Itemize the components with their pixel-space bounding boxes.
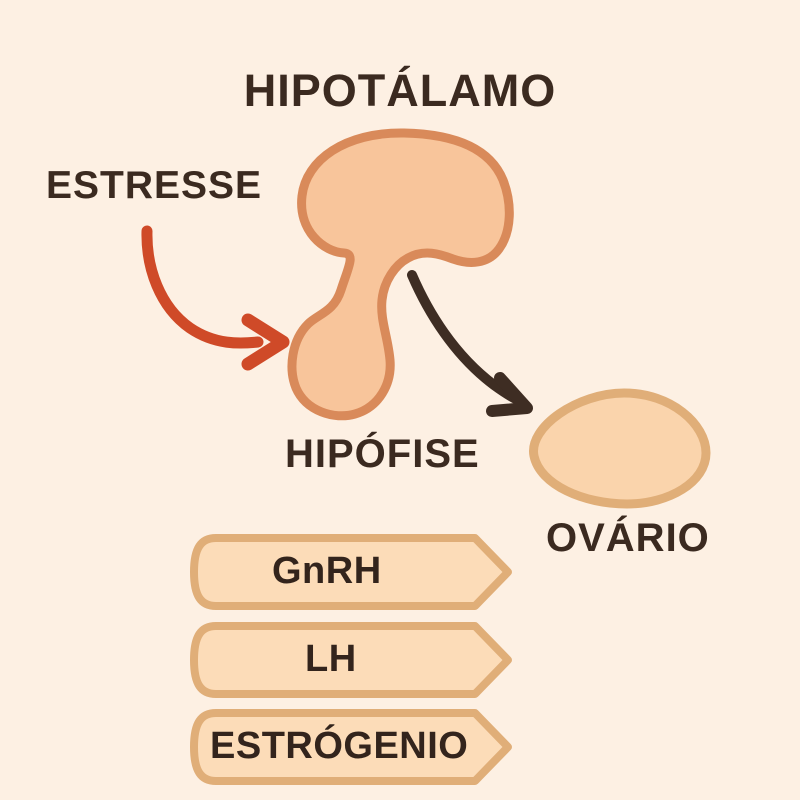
hormone-tag-label-estrogenio: ESTRÓGENIO xyxy=(210,727,468,765)
diagram-canvas: HIPOTÁLAMO ESTRESSE HIPÓFISE OVÁRIO GnRH… xyxy=(0,0,800,800)
hipofise-ovario-arrow xyxy=(412,275,527,411)
hormone-tag-label-gnrh: GnRH xyxy=(272,552,382,590)
label-estresse: ESTRESSE xyxy=(46,166,262,205)
estresse-arrow xyxy=(147,231,283,364)
diagram-artwork xyxy=(0,0,800,800)
ovario-shape xyxy=(534,393,706,504)
hormone-tag-label-lh: LH xyxy=(305,640,357,678)
label-hipofise: HIPÓFISE xyxy=(285,434,480,474)
label-ovario: OVÁRIO xyxy=(546,518,710,558)
label-hipotalamo: HIPOTÁLAMO xyxy=(244,68,556,113)
